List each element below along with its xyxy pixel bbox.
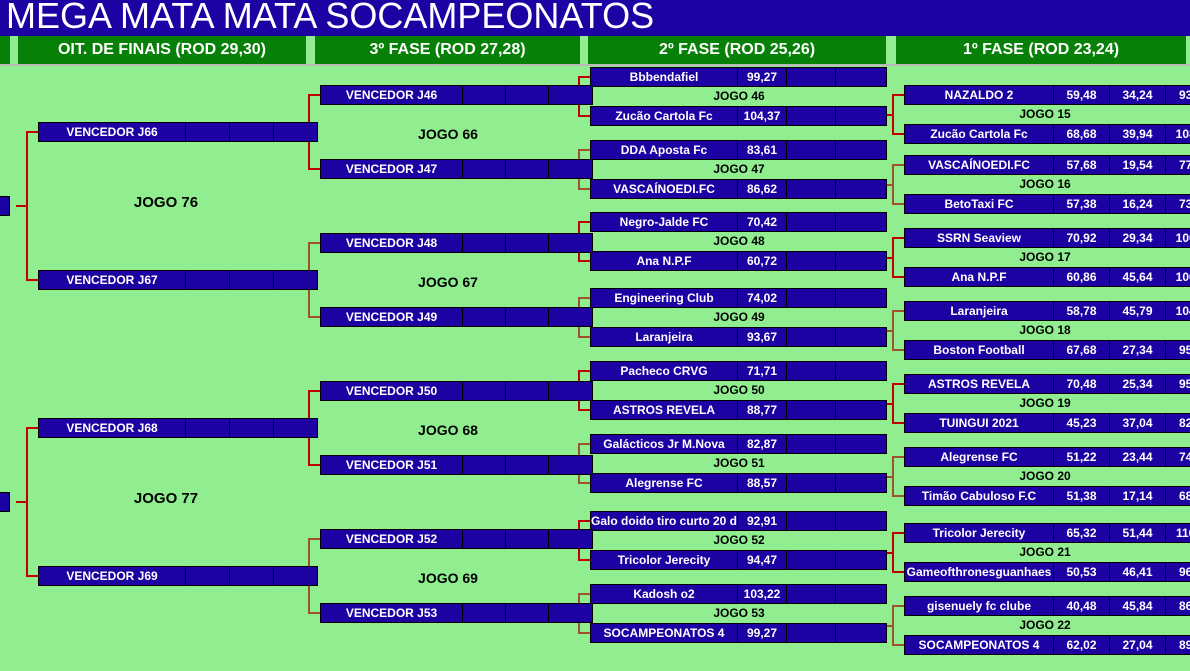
match-row: VENCEDOR J51: [320, 455, 576, 475]
p3-m1-game-label: JOGO 67: [320, 274, 576, 290]
title-bar: MEGA MATA MATA SOCAMPEONATOS: [0, 0, 1190, 36]
p3-m1-top-score2[interactable]: [505, 233, 549, 253]
p2-m6-bottom-score2[interactable]: [786, 550, 836, 570]
p2-m4-bottom-team[interactable]: ASTROS REVELA: [590, 400, 738, 420]
p2-m7-top-score3[interactable]: [835, 584, 887, 604]
match-row: Kadosh o2103,22: [590, 584, 888, 604]
p1-m2-top-score2[interactable]: 29,34: [1109, 228, 1166, 248]
match-row: Gameofthronesguanhaes50,5346,4196,94: [904, 562, 1186, 582]
phase-header-0[interactable]: ): [0, 36, 10, 64]
p2-m1-bottom-score3[interactable]: [835, 179, 887, 199]
p1-m3-bottom-score2[interactable]: 27,34: [1109, 340, 1166, 360]
p3-m3-game-label: JOGO 69: [320, 570, 576, 586]
p2-m5-top-score2[interactable]: [786, 434, 836, 454]
p2-m2-bottom-score1[interactable]: 60,72: [737, 251, 787, 271]
p2-m5-bottom-team[interactable]: Alegrense FC: [590, 473, 738, 493]
match-row: Zucão Cartola Fc104,37: [590, 106, 888, 126]
po-m1-bottom-score2[interactable]: [229, 566, 274, 586]
p1-m3-top-score1[interactable]: 58,78: [1053, 301, 1110, 321]
p2-m2-top-team[interactable]: Negro-Jalde FC: [590, 212, 738, 232]
p1-m7-top-team[interactable]: gisenuely fc clube: [904, 596, 1054, 616]
p3-m3-top-team[interactable]: VENCEDOR J52: [320, 529, 463, 549]
p3-m2-top-team[interactable]: VENCEDOR J50: [320, 381, 463, 401]
match-row: VENCEDOR J46: [320, 85, 576, 105]
p3-m3-bottom-team[interactable]: VENCEDOR J53: [320, 603, 463, 623]
p2-m1-bottom-score2[interactable]: [786, 179, 836, 199]
p3-m0-bottom-score2[interactable]: [505, 159, 549, 179]
header-divider: [0, 64, 1190, 66]
p3-m3-top-score3[interactable]: [548, 529, 593, 549]
match-row: Alegrense FC51,2223,4474,66: [904, 447, 1186, 467]
p2-m6-top-score1[interactable]: 92,91: [737, 511, 787, 531]
p2-m0-top-score1[interactable]: 99,27: [737, 67, 787, 87]
p2-m2-bottom-score2[interactable]: [786, 251, 836, 271]
p2-m0-top-score2[interactable]: [786, 67, 836, 87]
p1-m2-bottom-score1[interactable]: 60,86: [1053, 267, 1110, 287]
p1-m5-bottom-team[interactable]: Timão Cabuloso F.C: [904, 486, 1054, 506]
p1-m4-top-score1[interactable]: 70,48: [1053, 374, 1110, 394]
p2-m6-bottom-score3[interactable]: [835, 550, 887, 570]
p1-m1-bottom-score2[interactable]: 16,24: [1109, 194, 1166, 214]
match-row: Ana N.P.F60,72: [590, 251, 888, 271]
p3-m1-top-score1[interactable]: [462, 233, 506, 253]
p1-m0-bottom-score2[interactable]: 39,94: [1109, 124, 1166, 144]
match-row: Laranjeira58,7845,79104,57: [904, 301, 1186, 321]
p2-m3-top-score1[interactable]: 74,02: [737, 288, 787, 308]
p1-m7-bottom-score3[interactable]: 89,06: [1165, 635, 1190, 655]
match-row: Tricolor Jerecity65,3251,44116,76: [904, 523, 1186, 543]
p2-m3-bottom-score1[interactable]: 93,67: [737, 327, 787, 347]
match-row: Bbbendafiel99,27: [590, 67, 888, 87]
p1-m1-game-label: JOGO 16: [904, 176, 1186, 192]
match-row: SOCAMPEONATOS 462,0227,0489,06: [904, 635, 1186, 655]
p2-m6-top-team[interactable]: Galo doido tiro curto 20 d: [590, 511, 738, 531]
phase-header-2[interactable]: 3º FASE (ROD 27,28): [315, 36, 580, 64]
match-row: VENCEDOR J48: [320, 233, 576, 253]
p2-m1-top-score1[interactable]: 83,61: [737, 140, 787, 160]
phase-header-3[interactable]: 2º FASE (ROD 25,26): [588, 36, 886, 64]
p1-m4-top-score2[interactable]: 25,34: [1109, 374, 1166, 394]
p1-m5-top-team[interactable]: Alegrense FC: [904, 447, 1054, 467]
match-row: Zucão Cartola Fc68,6839,94108,62: [904, 124, 1186, 144]
phase-header-row: )OIT. DE FINAIS (ROD 29,30)3º FASE (ROD …: [0, 36, 1190, 64]
match-row: NAZALDO 259,4834,2493,72: [904, 85, 1186, 105]
p3-m3-bottom-score1[interactable]: [462, 603, 506, 623]
p1-m4-bottom-team[interactable]: TUINGUI 2021: [904, 413, 1054, 433]
match-row: VENCEDOR J66: [38, 122, 294, 142]
p2-m5-top-score3[interactable]: [835, 434, 887, 454]
p2-m4-bottom-score2[interactable]: [786, 400, 836, 420]
p2-m1-top-team[interactable]: DDA Aposta Fc: [590, 140, 738, 160]
p1-m5-bottom-score2[interactable]: 17,14: [1109, 486, 1166, 506]
p2-m6-top-score2[interactable]: [786, 511, 836, 531]
p3-m0-top-score1[interactable]: [462, 85, 506, 105]
match-row: Boston Football67,6827,3495,02: [904, 340, 1186, 360]
p3-m0-top-score3[interactable]: [548, 85, 593, 105]
p1-m0-top-score2[interactable]: 34,24: [1109, 85, 1166, 105]
match-row: VASCAÍNOEDI.FC86,62: [590, 179, 888, 199]
match-row: Laranjeira93,67: [590, 327, 888, 347]
match-row: Tricolor Jerecity94,47: [590, 550, 888, 570]
phase-header-4[interactable]: 1º FASE (ROD 23,24): [896, 36, 1186, 64]
match-row: DDA Aposta Fc83,61: [590, 140, 888, 160]
match-row: TUINGUI 202145,2337,0482,27: [904, 413, 1186, 433]
match-row: BetoTaxi FC57,3816,2473,62: [904, 194, 1186, 214]
cutoff-cell-1[interactable]: [0, 492, 10, 512]
p1-m3-bottom-team[interactable]: Boston Football: [904, 340, 1054, 360]
match-row: Galácticos Jr M.Nova82,87: [590, 434, 888, 454]
po-m0-top-score3[interactable]: [273, 122, 318, 142]
match-row: Engineering Club74,02: [590, 288, 888, 308]
po-m0-top-score2[interactable]: [229, 122, 274, 142]
p2-m4-game-label: JOGO 50: [590, 382, 888, 398]
match-row: VENCEDOR J53: [320, 603, 576, 623]
p1-m4-bottom-score1[interactable]: 45,23: [1053, 413, 1110, 433]
p1-m7-game-label: JOGO 22: [904, 617, 1186, 633]
p2-m6-top-score3[interactable]: [835, 511, 887, 531]
match-row: VENCEDOR J68: [38, 418, 294, 438]
p1-m7-top-score2[interactable]: 45,84: [1109, 596, 1166, 616]
p3-m2-game-label: JOGO 68: [320, 422, 576, 438]
p1-m0-bottom-score1[interactable]: 68,68: [1053, 124, 1110, 144]
p2-m3-top-score3[interactable]: [835, 288, 887, 308]
p3-m2-bottom-team[interactable]: VENCEDOR J51: [320, 455, 463, 475]
p1-m5-game-label: JOGO 20: [904, 468, 1186, 484]
po-m0-top-team[interactable]: VENCEDOR J66: [38, 122, 186, 142]
p1-m2-top-team[interactable]: SSRN Seaview: [904, 228, 1054, 248]
p2-m0-bottom-score3[interactable]: [835, 106, 887, 126]
p2-m7-bottom-score2[interactable]: [786, 623, 836, 643]
match-row: Negro-Jalde FC70,42: [590, 212, 888, 232]
p1-m2-top-score3[interactable]: 100,26: [1165, 228, 1190, 248]
po-m1-bottom-score1[interactable]: [185, 566, 230, 586]
p1-m0-game-label: JOGO 15: [904, 106, 1186, 122]
p2-m2-top-score3[interactable]: [835, 212, 887, 232]
p1-m2-top-score1[interactable]: 70,92: [1053, 228, 1110, 248]
p3-m0-game-label: JOGO 66: [320, 126, 576, 142]
p1-m0-bottom-score3[interactable]: 108,62: [1165, 124, 1190, 144]
po-m1-top-score1[interactable]: [185, 418, 230, 438]
p1-m6-bottom-score3[interactable]: 96,94: [1165, 562, 1190, 582]
p2-m4-top-team[interactable]: Pacheco CRVG: [590, 361, 738, 381]
p2-m1-top-score2[interactable]: [786, 140, 836, 160]
p2-m4-top-score1[interactable]: 71,71: [737, 361, 787, 381]
p2-m0-top-score3[interactable]: [835, 67, 887, 87]
po-m0-bottom-score2[interactable]: [229, 270, 274, 290]
p1-m4-bottom-score3[interactable]: 82,27: [1165, 413, 1190, 433]
p1-m6-top-score2[interactable]: 51,44: [1109, 523, 1166, 543]
p1-m2-bottom-score3[interactable]: 106,50: [1165, 267, 1190, 287]
p1-m4-top-score3[interactable]: 95,82: [1165, 374, 1190, 394]
p2-m3-bottom-team[interactable]: Laranjeira: [590, 327, 738, 347]
p1-m1-top-score2[interactable]: 19,54: [1109, 155, 1166, 175]
po-m1-top-team[interactable]: VENCEDOR J68: [38, 418, 186, 438]
p1-m0-top-team[interactable]: NAZALDO 2: [904, 85, 1054, 105]
p1-m7-bottom-team[interactable]: SOCAMPEONATOS 4: [904, 635, 1054, 655]
p3-m3-top-score2[interactable]: [505, 529, 549, 549]
p1-m5-top-score1[interactable]: 51,22: [1053, 447, 1110, 467]
match-row: ASTROS REVELA88,77: [590, 400, 888, 420]
p3-m2-top-score1[interactable]: [462, 381, 506, 401]
p1-m6-top-score1[interactable]: 65,32: [1053, 523, 1110, 543]
p2-m6-game-label: JOGO 52: [590, 532, 888, 548]
p2-m3-game-label: JOGO 49: [590, 309, 888, 325]
p2-m7-top-team[interactable]: Kadosh o2: [590, 584, 738, 604]
p3-m2-bottom-score1[interactable]: [462, 455, 506, 475]
p1-m3-top-score3[interactable]: 104,57: [1165, 301, 1190, 321]
p1-m1-bottom-score1[interactable]: 57,38: [1053, 194, 1110, 214]
p1-m7-bottom-score1[interactable]: 62,02: [1053, 635, 1110, 655]
match-row: VENCEDOR J50: [320, 381, 576, 401]
p1-m7-top-score3[interactable]: 86,32: [1165, 596, 1190, 616]
p1-m3-bottom-score3[interactable]: 95,02: [1165, 340, 1190, 360]
po-m1-top-score2[interactable]: [229, 418, 274, 438]
p1-m6-game-label: JOGO 21: [904, 544, 1186, 560]
p3-m0-bottom-team[interactable]: VENCEDOR J47: [320, 159, 463, 179]
p3-m1-top-score3[interactable]: [548, 233, 593, 253]
p1-m3-top-score2[interactable]: 45,79: [1109, 301, 1166, 321]
p1-m5-bottom-score3[interactable]: 68,52: [1165, 486, 1190, 506]
p2-m4-bottom-score3[interactable]: [835, 400, 887, 420]
p1-m0-top-score1[interactable]: 59,48: [1053, 85, 1110, 105]
po-m0-game-label: JOGO 76: [38, 194, 294, 210]
p2-m7-game-label: JOGO 53: [590, 605, 888, 621]
match-row: VENCEDOR J52: [320, 529, 576, 549]
p2-m5-top-score1[interactable]: 82,87: [737, 434, 787, 454]
p1-m5-bottom-score1[interactable]: 51,38: [1053, 486, 1110, 506]
p1-m3-top-team[interactable]: Laranjeira: [904, 301, 1054, 321]
p2-m2-top-score1[interactable]: 70,42: [737, 212, 787, 232]
match-row: VENCEDOR J49: [320, 307, 576, 327]
page-title: MEGA MATA MATA SOCAMPEONATOS: [6, 0, 654, 36]
p2-m5-top-team[interactable]: Galácticos Jr M.Nova: [590, 434, 738, 454]
po-m0-top-score1[interactable]: [185, 122, 230, 142]
po-m0-bottom-team[interactable]: VENCEDOR J67: [38, 270, 186, 290]
match-row: Galo doido tiro curto 20 d92,91: [590, 511, 888, 531]
p2-m7-bottom-score1[interactable]: 99,27: [737, 623, 787, 643]
p1-m6-bottom-team[interactable]: Gameofthronesguanhaes: [904, 562, 1054, 582]
match-row: Alegrense FC88,57: [590, 473, 888, 493]
p3-m2-bottom-score3[interactable]: [548, 455, 593, 475]
p2-m2-top-score2[interactable]: [786, 212, 836, 232]
p2-m6-bottom-score1[interactable]: 94,47: [737, 550, 787, 570]
p3-m3-top-score1[interactable]: [462, 529, 506, 549]
p2-m3-top-score2[interactable]: [786, 288, 836, 308]
po-m1-bottom-team[interactable]: VENCEDOR J69: [38, 566, 186, 586]
p3-m2-top-score3[interactable]: [548, 381, 593, 401]
p1-m3-bottom-score1[interactable]: 67,68: [1053, 340, 1110, 360]
p2-m1-game-label: JOGO 47: [590, 161, 888, 177]
p2-m2-bottom-team[interactable]: Ana N.P.F: [590, 251, 738, 271]
p2-m1-top-score3[interactable]: [835, 140, 887, 160]
p1-m6-top-score3[interactable]: 116,76: [1165, 523, 1190, 543]
match-row: VENCEDOR J69: [38, 566, 294, 586]
p1-m3-game-label: JOGO 18: [904, 322, 1186, 338]
po-m1-game-label: JOGO 77: [38, 490, 294, 506]
p1-m2-bottom-score2[interactable]: 45,64: [1109, 267, 1166, 287]
p1-m4-top-team[interactable]: ASTROS REVELA: [904, 374, 1054, 394]
match-row: Timão Cabuloso F.C51,3817,1468,52: [904, 486, 1186, 506]
match-row: VASCAÍNOEDI.FC57,6819,5477,22: [904, 155, 1186, 175]
match-row: ASTROS REVELA70,4825,3495,82: [904, 374, 1186, 394]
match-row: gisenuely fc clube40,4845,8486,32: [904, 596, 1186, 616]
p3-m2-bottom-score2[interactable]: [505, 455, 549, 475]
p2-m5-bottom-score3[interactable]: [835, 473, 887, 493]
match-row: Pacheco CRVG71,71: [590, 361, 888, 381]
p1-m1-top-score3[interactable]: 77,22: [1165, 155, 1190, 175]
p3-m2-top-score2[interactable]: [505, 381, 549, 401]
p1-m7-top-score1[interactable]: 40,48: [1053, 596, 1110, 616]
p3-m1-bottom-score2[interactable]: [505, 307, 549, 327]
po-m0-bottom-score3[interactable]: [273, 270, 318, 290]
p2-m3-bottom-score3[interactable]: [835, 327, 887, 347]
p1-m6-bottom-score1[interactable]: 50,53: [1053, 562, 1110, 582]
bracket-page: MEGA MATA MATA SOCAMPEONATOS )OIT. DE FI…: [0, 0, 1190, 671]
match-row: VENCEDOR J67: [38, 270, 294, 290]
p2-m4-top-score2[interactable]: [786, 361, 836, 381]
p1-m1-bottom-team[interactable]: BetoTaxi FC: [904, 194, 1054, 214]
p1-m1-bottom-score3[interactable]: 73,62: [1165, 194, 1190, 214]
p3-m1-top-team[interactable]: VENCEDOR J48: [320, 233, 463, 253]
p2-m7-top-score1[interactable]: 103,22: [737, 584, 787, 604]
p2-m3-top-team[interactable]: Engineering Club: [590, 288, 738, 308]
p2-m1-bottom-team[interactable]: VASCAÍNOEDI.FC: [590, 179, 738, 199]
phase-header-1[interactable]: OIT. DE FINAIS (ROD 29,30): [18, 36, 306, 64]
p1-m6-bottom-score2[interactable]: 46,41: [1109, 562, 1166, 582]
p2-m7-top-score2[interactable]: [786, 584, 836, 604]
p2-m3-bottom-score2[interactable]: [786, 327, 836, 347]
p1-m6-top-team[interactable]: Tricolor Jerecity: [904, 523, 1054, 543]
p2-m7-bottom-score3[interactable]: [835, 623, 887, 643]
match-row: VENCEDOR J47: [320, 159, 576, 179]
cutoff-cell-0[interactable]: [0, 196, 10, 216]
p1-m5-top-score3[interactable]: 74,66: [1165, 447, 1190, 467]
p2-m0-bottom-score2[interactable]: [786, 106, 836, 126]
p1-m1-top-team[interactable]: VASCAÍNOEDI.FC: [904, 155, 1054, 175]
p2-m5-bottom-score2[interactable]: [786, 473, 836, 493]
p2-m0-bottom-score1[interactable]: 104,37: [737, 106, 787, 126]
p1-m5-top-score2[interactable]: 23,44: [1109, 447, 1166, 467]
p2-m5-bottom-score1[interactable]: 88,57: [737, 473, 787, 493]
p2-m0-bottom-team[interactable]: Zucão Cartola Fc: [590, 106, 738, 126]
p2-m2-bottom-score3[interactable]: [835, 251, 887, 271]
p3-m1-bottom-team[interactable]: VENCEDOR J49: [320, 307, 463, 327]
match-row: SOCAMPEONATOS 499,27: [590, 623, 888, 643]
p1-m7-bottom-score2[interactable]: 27,04: [1109, 635, 1166, 655]
p2-m1-bottom-score1[interactable]: 86,62: [737, 179, 787, 199]
p1-m4-game-label: JOGO 19: [904, 395, 1186, 411]
match-row: Ana N.P.F60,8645,64106,50: [904, 267, 1186, 287]
p2-m0-top-team[interactable]: Bbbendafiel: [590, 67, 738, 87]
p1-m2-bottom-team[interactable]: Ana N.P.F: [904, 267, 1054, 287]
p2-m7-bottom-team[interactable]: SOCAMPEONATOS 4: [590, 623, 738, 643]
match-row: SSRN Seaview70,9229,34100,26: [904, 228, 1186, 248]
p1-m1-top-score1[interactable]: 57,68: [1053, 155, 1110, 175]
p2-m0-game-label: JOGO 46: [590, 88, 888, 104]
p3-m1-bottom-score3[interactable]: [548, 307, 593, 327]
p1-m4-bottom-score2[interactable]: 37,04: [1109, 413, 1166, 433]
p2-m4-top-score3[interactable]: [835, 361, 887, 381]
po-m1-bottom-score3[interactable]: [273, 566, 318, 586]
p1-m2-game-label: JOGO 17: [904, 249, 1186, 265]
p3-m3-bottom-score2[interactable]: [505, 603, 549, 623]
p3-m0-bottom-score1[interactable]: [462, 159, 506, 179]
po-m1-top-score3[interactable]: [273, 418, 318, 438]
p2-m2-game-label: JOGO 48: [590, 233, 888, 249]
p3-m0-top-score2[interactable]: [505, 85, 549, 105]
p3-m1-bottom-score1[interactable]: [462, 307, 506, 327]
p3-m3-bottom-score3[interactable]: [548, 603, 593, 623]
p2-m6-bottom-team[interactable]: Tricolor Jerecity: [590, 550, 738, 570]
p1-m0-bottom-team[interactable]: Zucão Cartola Fc: [904, 124, 1054, 144]
po-m0-bottom-score1[interactable]: [185, 270, 230, 290]
p1-m0-top-score3[interactable]: 93,72: [1165, 85, 1190, 105]
p3-m0-top-team[interactable]: VENCEDOR J46: [320, 85, 463, 105]
p2-m4-bottom-score1[interactable]: 88,77: [737, 400, 787, 420]
p3-m0-bottom-score3[interactable]: [548, 159, 593, 179]
p2-m5-game-label: JOGO 51: [590, 455, 888, 471]
